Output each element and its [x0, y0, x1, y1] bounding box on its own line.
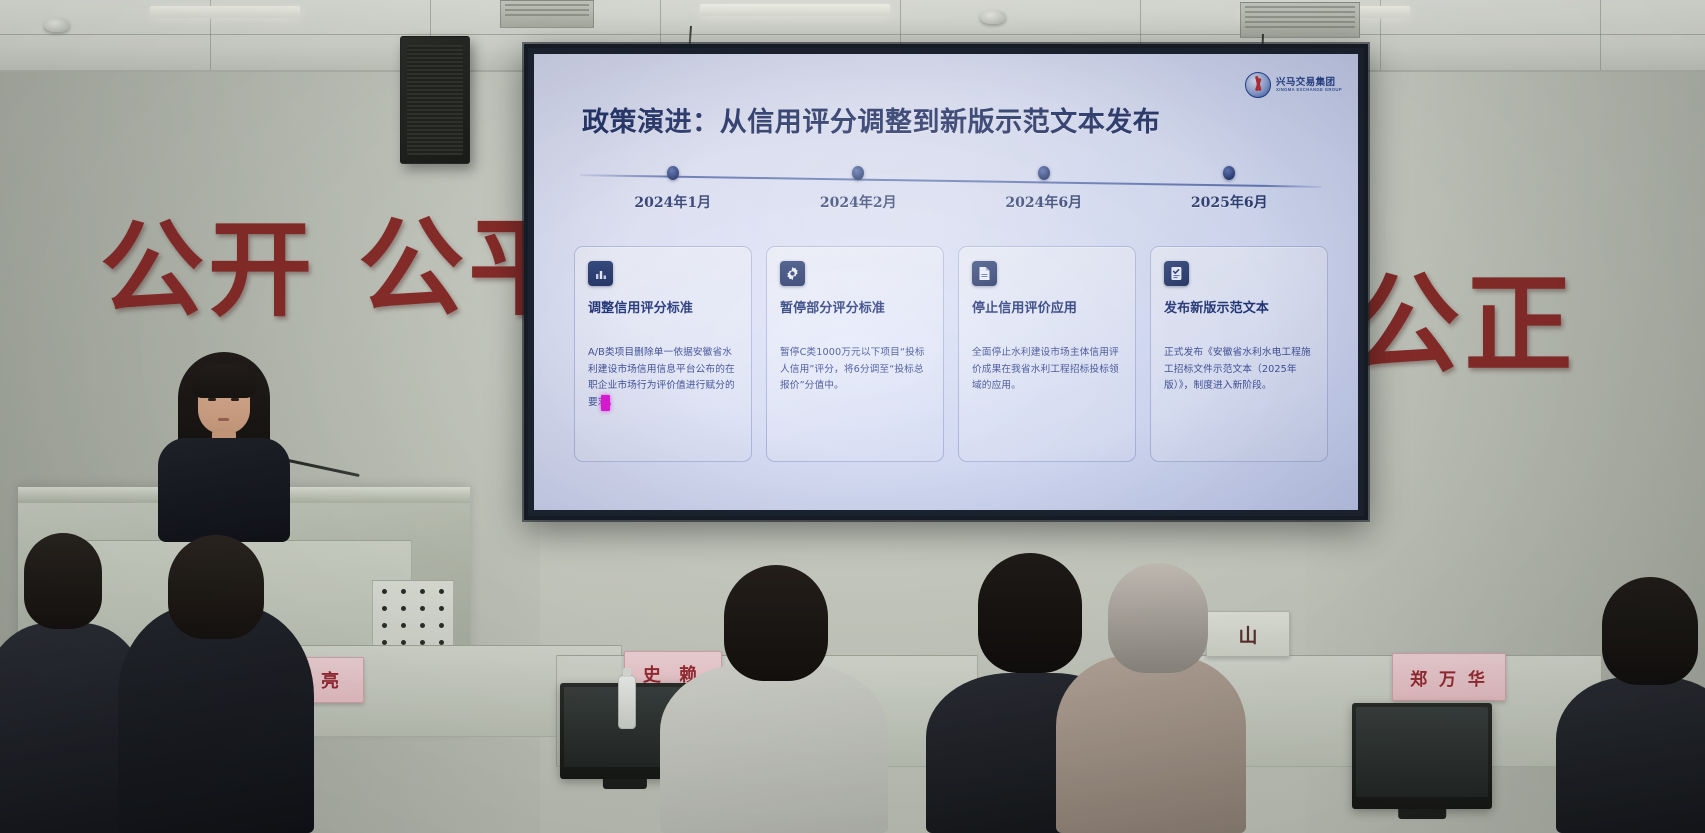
logo-company-name-en: XINGMA EXCHANGE GROUP: [1276, 88, 1342, 92]
nameplate: 郑 万 华: [1392, 653, 1506, 701]
timeline-markers: 2024年1月 2024年2月 2024年6月 2025年6月: [580, 166, 1322, 244]
timeline-date: 2024年6月: [1005, 192, 1082, 212]
timeline-dot-icon: [667, 166, 679, 180]
company-logo: 兴马交易集团 XINGMA EXCHANGE GROUP: [1245, 72, 1342, 98]
water-bottle: [618, 675, 636, 729]
timeline-item: 2024年2月: [766, 166, 952, 244]
card-body: 暂停C类1000万元以下项目“投标人信用”评分，将6分调至“投标总报价”分值中。: [780, 345, 930, 395]
wall-character-gongzheng: 公正: [1352, 238, 1577, 394]
card-title: 暂停部分评分标准: [780, 297, 930, 316]
card-title: 发布新版示范文本: [1164, 297, 1314, 316]
timeline-date: 2024年2月: [820, 192, 897, 212]
audience-person-head: [168, 535, 264, 639]
wall-speaker: [400, 36, 470, 164]
audience-person-head: [1108, 563, 1208, 673]
card-body: 全面停止水利建设市场主体信用评价成果在我省水利工程招标投标领域的应用。: [972, 345, 1122, 395]
timeline-dot-icon: [1223, 166, 1235, 180]
timeline-card-2: 暂停部分评分标准 暂停C类1000万元以下项目“投标人信用”评分，将6分调至“投…: [766, 246, 944, 462]
checklist-icon: [1164, 261, 1189, 286]
nameplate: 山: [1206, 611, 1290, 657]
projection-screen[interactable]: 兴马交易集团 XINGMA EXCHANGE GROUP 政策演进：从信用评分调…: [524, 44, 1368, 520]
desk-monitor: [1352, 703, 1492, 809]
ceiling-light-center: [700, 4, 890, 16]
nameplate-text: 郑 万 华: [1410, 665, 1488, 690]
timeline-cards: 调整信用评分标准 A/B类项目删除单一依据安徽省水利建设市场信用信息平台公布的在…: [574, 246, 1328, 462]
timeline-card-4: 发布新版示范文本 正式发布《安徽省水利水电工程施工招标文件示范文本（2025年版…: [1150, 246, 1328, 462]
bar-chart-icon: [588, 261, 613, 286]
audience-person-head: [1602, 577, 1698, 685]
card-body: 正式发布《安徽省水利水电工程施工招标文件示范文本（2025年版）》，制度进入新阶…: [1164, 345, 1314, 395]
nameplate-text: 山: [1238, 621, 1257, 648]
ceiling-light-left: [150, 6, 300, 18]
wall-character-gongkai: 公开: [100, 185, 316, 336]
audience-person: [118, 605, 314, 833]
speaker-grille: [407, 45, 463, 155]
slide-title: 政策演进：从信用评分调整到新版示范文本发布: [582, 100, 1322, 139]
audience-area: 亮 史 赖 山 郑 万 华: [0, 505, 1705, 833]
audience-person: [1056, 655, 1246, 833]
timeline-item: 2024年1月: [580, 166, 766, 244]
card-title: 调整信用评分标准: [588, 297, 738, 316]
nameplate-text: 亮: [321, 667, 339, 693]
gear-icon: [780, 261, 805, 286]
audience-person-head: [724, 565, 828, 681]
card-body: A/B类项目删除单一依据安徽省水利建设市场信用信息平台公布的在职企业市场行为评价…: [588, 345, 738, 412]
timeline-date: 2025年6月: [1191, 192, 1268, 212]
smoke-detector-icon: [980, 10, 1006, 24]
timeline-item: 2025年6月: [1137, 166, 1323, 244]
audience-person-head: [24, 533, 102, 629]
mouse-cursor-highlight: [601, 395, 610, 411]
air-vent: [1240, 2, 1360, 38]
smoke-detector-icon: [44, 18, 70, 32]
card-title: 停止信用评价应用: [972, 297, 1122, 316]
presentation-slide: 兴马交易集团 XINGMA EXCHANGE GROUP 政策演进：从信用评分调…: [534, 54, 1358, 510]
timeline-date: 2024年1月: [634, 192, 711, 212]
timeline-dot-icon: [1038, 166, 1050, 180]
timeline-dot-icon: [852, 166, 864, 180]
brand-mark-icon: [1245, 72, 1271, 98]
conference-room-scene: 公开 公平 公正 兴马交易集团 XINGMA EXCHANGE GROUP 政策…: [0, 0, 1705, 833]
timeline-item: 2024年6月: [951, 166, 1137, 244]
audience-person: [660, 663, 888, 833]
timeline-card-1: 调整信用评分标准 A/B类项目删除单一依据安徽省水利建设市场信用信息平台公布的在…: [574, 246, 752, 462]
air-vent: [500, 0, 594, 28]
audience-person-head: [978, 553, 1082, 673]
document-icon: [972, 261, 997, 286]
audience-person: [1556, 677, 1705, 833]
timeline-card-3: 停止信用评价应用 全面停止水利建设市场主体信用评价成果在我省水利工程招标投标领域…: [958, 246, 1136, 462]
